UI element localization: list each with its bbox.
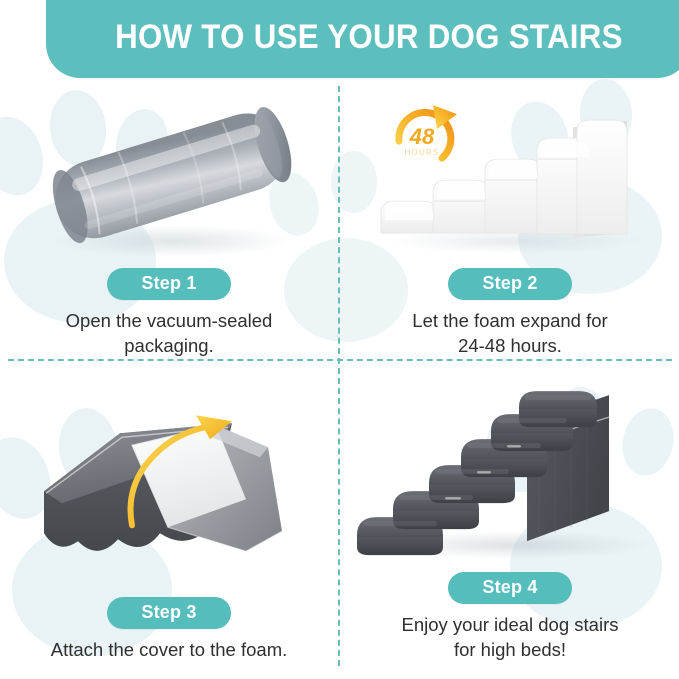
- step-badge-1: Step 1: [107, 268, 230, 300]
- header-banner: HOW TO USE YOUR DOG STAIRS: [46, 0, 679, 78]
- vertical-divider: [338, 86, 340, 666]
- horizontal-divider: [8, 359, 672, 361]
- step-caption-4: Enjoy your ideal dog stairs for high bed…: [402, 613, 619, 662]
- step-card-2: 48 HOURS Step 2 Let the foam expand for …: [341, 86, 679, 358]
- svg-text:48: 48: [409, 124, 435, 149]
- finished-dog-stairs-illustration: [341, 362, 679, 572]
- step-card-4: Step 4 Enjoy your ideal dog stairs for h…: [341, 362, 679, 662]
- page-title: HOW TO USE YOUR DOG STAIRS: [115, 18, 623, 57]
- step-badge-2: Step 2: [448, 268, 571, 300]
- infographic-root: HOW TO USE YOUR DOG STAIRS: [0, 0, 679, 679]
- step-badge-4: Step 4: [448, 572, 571, 604]
- step-card-3: Step 3 Attach the cover to the foam.: [0, 362, 338, 662]
- svg-text:HOURS: HOURS: [405, 148, 440, 157]
- step-caption-1: Open the vacuum-sealed packaging.: [66, 309, 273, 358]
- step-caption-3: Attach the cover to the foam.: [51, 638, 288, 662]
- 48-hours-circular-arrow-icon: 48 HOURS: [399, 105, 457, 158]
- attach-cover-illustration: [0, 362, 338, 597]
- step-card-1: Step 1 Open the vacuum-sealed packaging.: [0, 86, 338, 358]
- step-badge-3: Step 3: [107, 597, 230, 629]
- expanding-white-foam-stairs-illustration: 48 HOURS: [341, 86, 679, 268]
- vacuum-sealed-roll-illustration: [0, 86, 338, 268]
- step-caption-2: Let the foam expand for 24-48 hours.: [412, 309, 607, 358]
